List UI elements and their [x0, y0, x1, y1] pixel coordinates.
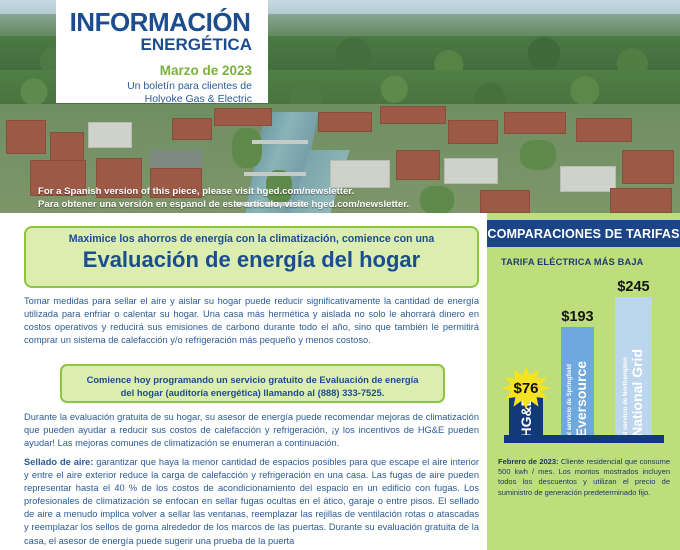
article-paragraph-3-text: garantizar que haya la menor cantidad de… [24, 457, 479, 546]
article-kicker: Maximice los ahorros de energía con la c… [26, 233, 477, 246]
chart-bar-eversource: al servicio de SpringfieldEversource [561, 327, 594, 437]
masthead-panel: INFORMACIÓN ENERGÉTICA Marzo de 2023 Un … [56, 0, 268, 103]
photo-bridge [244, 172, 306, 176]
chart-bar-label: al servicio de NorthamptonNational Grid [622, 345, 645, 437]
sidebar-subtitle: TARIFA ELÉCTRICA MÁS BAJA [501, 257, 671, 267]
notice-line-en: For a Spanish version of this piece, ple… [38, 186, 468, 199]
photo-mill-building [214, 108, 272, 126]
photo-mill-building [396, 150, 440, 180]
photo-mill-building [480, 190, 530, 213]
chart-bar-sublabel: al servicio de Northampton [622, 349, 629, 437]
photo-mill-building [610, 188, 672, 213]
photo-bridge [252, 140, 308, 144]
footnote-label: Febrero de 2023: [498, 457, 559, 466]
article-callout-box: Comience hoy programando un servicio gra… [60, 364, 445, 403]
article-column: Maximice los ahorros de energía con la c… [0, 213, 487, 550]
photo-building [444, 158, 498, 184]
spanish-version-notice: For a Spanish version of this piece, ple… [38, 186, 468, 211]
photo-mill-building [380, 106, 446, 124]
article-paragraph-3-label: Sellado de aire: [24, 457, 93, 467]
article-paragraph-1: Tomar medidas para sellar el aire y aisl… [24, 295, 479, 347]
rate-comparison-sidebar: COMPARACIONES DE TARIFAS TARIFA ELÉCTRIC… [487, 213, 680, 550]
photo-mill-building [6, 120, 46, 154]
masthead-subtitle-line1: Un boletín para clientes de [66, 80, 254, 93]
article-headline: Evaluación de energía del hogar [26, 247, 477, 273]
photo-mill-building [448, 120, 498, 144]
masthead-title-line2: ENERGÉTICA [66, 35, 254, 54]
article-paragraph-3: Sellado de aire: garantizar que haya la … [24, 456, 479, 548]
header-photo: INFORMACIÓN ENERGÉTICA Marzo de 2023 Un … [0, 0, 680, 213]
photo-tree-cluster [232, 128, 262, 168]
article-headline-box: Maximice los ahorros de energía con la c… [24, 226, 479, 288]
callout-line-2: del hogar (auditoría energética) llamand… [62, 386, 443, 399]
sidebar-footnote: Febrero de 2023: Cliente residencial que… [498, 457, 670, 498]
photo-mill-building [318, 112, 372, 132]
newsletter-page: INFORMACIÓN ENERGÉTICA Marzo de 2023 Un … [0, 0, 680, 550]
photo-building [560, 166, 616, 192]
sidebar-header: COMPARACIONES DE TARIFAS [487, 220, 680, 247]
chart-value-label: $76 [513, 380, 538, 397]
issue-date: Marzo de 2023 [66, 63, 254, 78]
chart-bar-label: al servicio de SpringfieldEversource [566, 357, 589, 437]
chart-highlight-starburst: $76 [500, 366, 552, 410]
photo-mill-building [622, 150, 674, 184]
callout-line-1: Comience hoy programando un servicio gra… [62, 373, 443, 386]
notice-line-es: Para obtener una versión en espanol de e… [38, 199, 468, 212]
chart-bar-name: Eversource [573, 361, 589, 437]
photo-mill-building [172, 118, 212, 140]
rate-comparison-bar-chart: HG&E$76al servicio de SpringfieldEversou… [487, 275, 680, 447]
chart-bar-name: National Grid [629, 349, 645, 437]
photo-building [330, 160, 390, 188]
chart-bar-sublabel: al servicio de Springfield [566, 361, 573, 437]
chart-bar-national-grid: al servicio de NorthamptonNational Grid [615, 297, 652, 437]
article-paragraph-2: Durante la evaluación gratuita de su hog… [24, 411, 479, 450]
photo-mill-building [504, 112, 566, 134]
photo-mill-building [576, 118, 632, 142]
chart-value-label: $245 [615, 279, 652, 295]
photo-tree-cluster [520, 140, 556, 170]
photo-roof [150, 150, 202, 170]
photo-building [88, 122, 132, 148]
masthead-title-line1: INFORMACIÓN [66, 9, 254, 35]
chart-baseline [504, 435, 664, 443]
chart-value-label: $193 [561, 309, 594, 325]
photo-mill-building [50, 132, 84, 162]
masthead-subtitle-line2: Holyoke Gas & Electric [66, 93, 254, 106]
